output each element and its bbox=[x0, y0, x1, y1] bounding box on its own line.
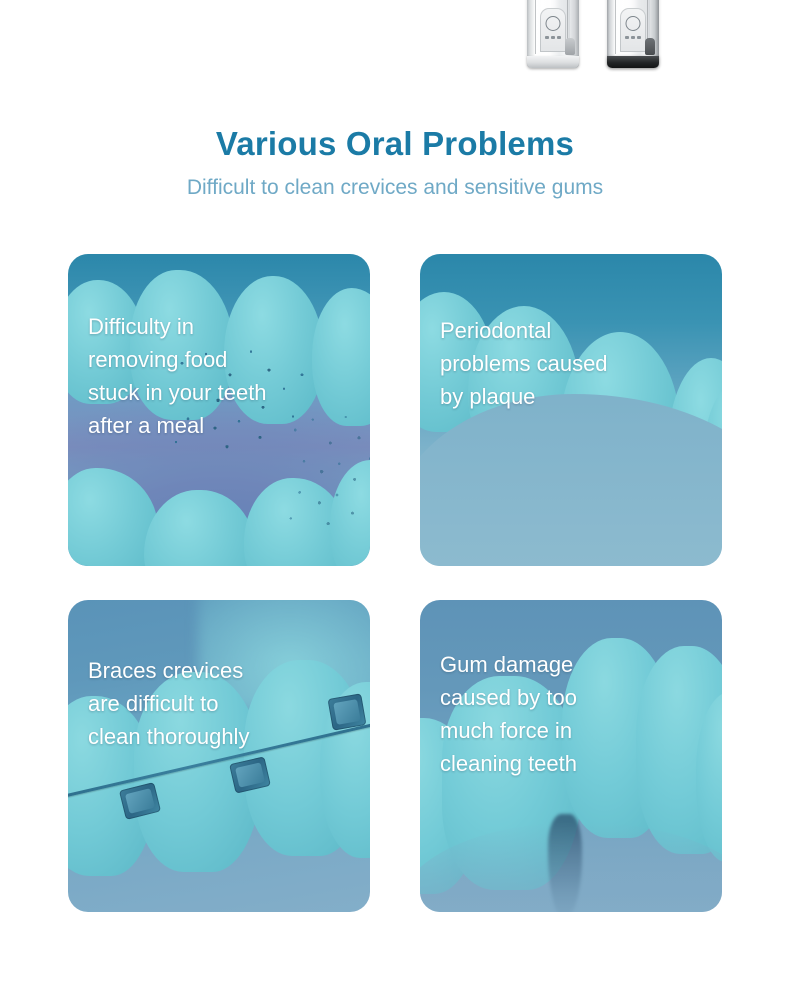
oral-problems-page: Various Oral Problems Difficult to clean… bbox=[0, 0, 790, 1008]
led-indicator bbox=[637, 36, 641, 39]
water-flosser-white-device bbox=[527, 0, 579, 68]
problem-card-grid: Difficulty in removing food stuck in you… bbox=[68, 254, 722, 912]
problem-card-food-stuck: Difficulty in removing food stuck in you… bbox=[68, 254, 370, 566]
device-nozzle bbox=[645, 38, 655, 55]
card-caption: Braces crevices are difficult to clean t… bbox=[88, 654, 356, 753]
led-indicator bbox=[631, 36, 635, 39]
card-caption: Periodontal problems caused by plaque bbox=[440, 314, 708, 413]
heading-block: Various Oral Problems Difficult to clean… bbox=[0, 124, 790, 201]
mode-indicator-leds bbox=[545, 36, 561, 39]
tooth-shape bbox=[144, 490, 256, 566]
page-subtitle: Difficult to clean crevices and sensitiv… bbox=[0, 175, 790, 201]
water-flosser-black-device bbox=[607, 0, 659, 68]
led-indicator bbox=[625, 36, 629, 39]
gum-shape bbox=[420, 394, 722, 566]
mode-indicator-leds bbox=[625, 36, 641, 39]
led-indicator bbox=[545, 36, 549, 39]
page-title: Various Oral Problems bbox=[0, 124, 790, 164]
product-image-strip bbox=[0, 0, 790, 72]
device-seam-left bbox=[535, 0, 536, 54]
card-caption: Difficulty in removing food stuck in you… bbox=[88, 310, 356, 442]
device-control-panel bbox=[620, 8, 646, 52]
power-button-icon bbox=[546, 16, 561, 31]
led-indicator bbox=[557, 36, 561, 39]
device-base bbox=[527, 56, 579, 68]
card-caption: Gum damage caused by too much force in c… bbox=[440, 648, 708, 780]
device-nozzle bbox=[565, 38, 575, 55]
problem-card-periodontal-plaque: Periodontal problems caused by plaque bbox=[420, 254, 722, 566]
power-button-icon bbox=[626, 16, 641, 31]
device-seam-left bbox=[615, 0, 616, 54]
problem-card-braces-crevices: Braces crevices are difficult to clean t… bbox=[68, 600, 370, 912]
problem-card-gum-damage: Gum damage caused by too much force in c… bbox=[420, 600, 722, 912]
device-base bbox=[607, 56, 659, 68]
device-control-panel bbox=[540, 8, 566, 52]
card-illustration-braces bbox=[68, 600, 370, 912]
led-indicator bbox=[551, 36, 555, 39]
